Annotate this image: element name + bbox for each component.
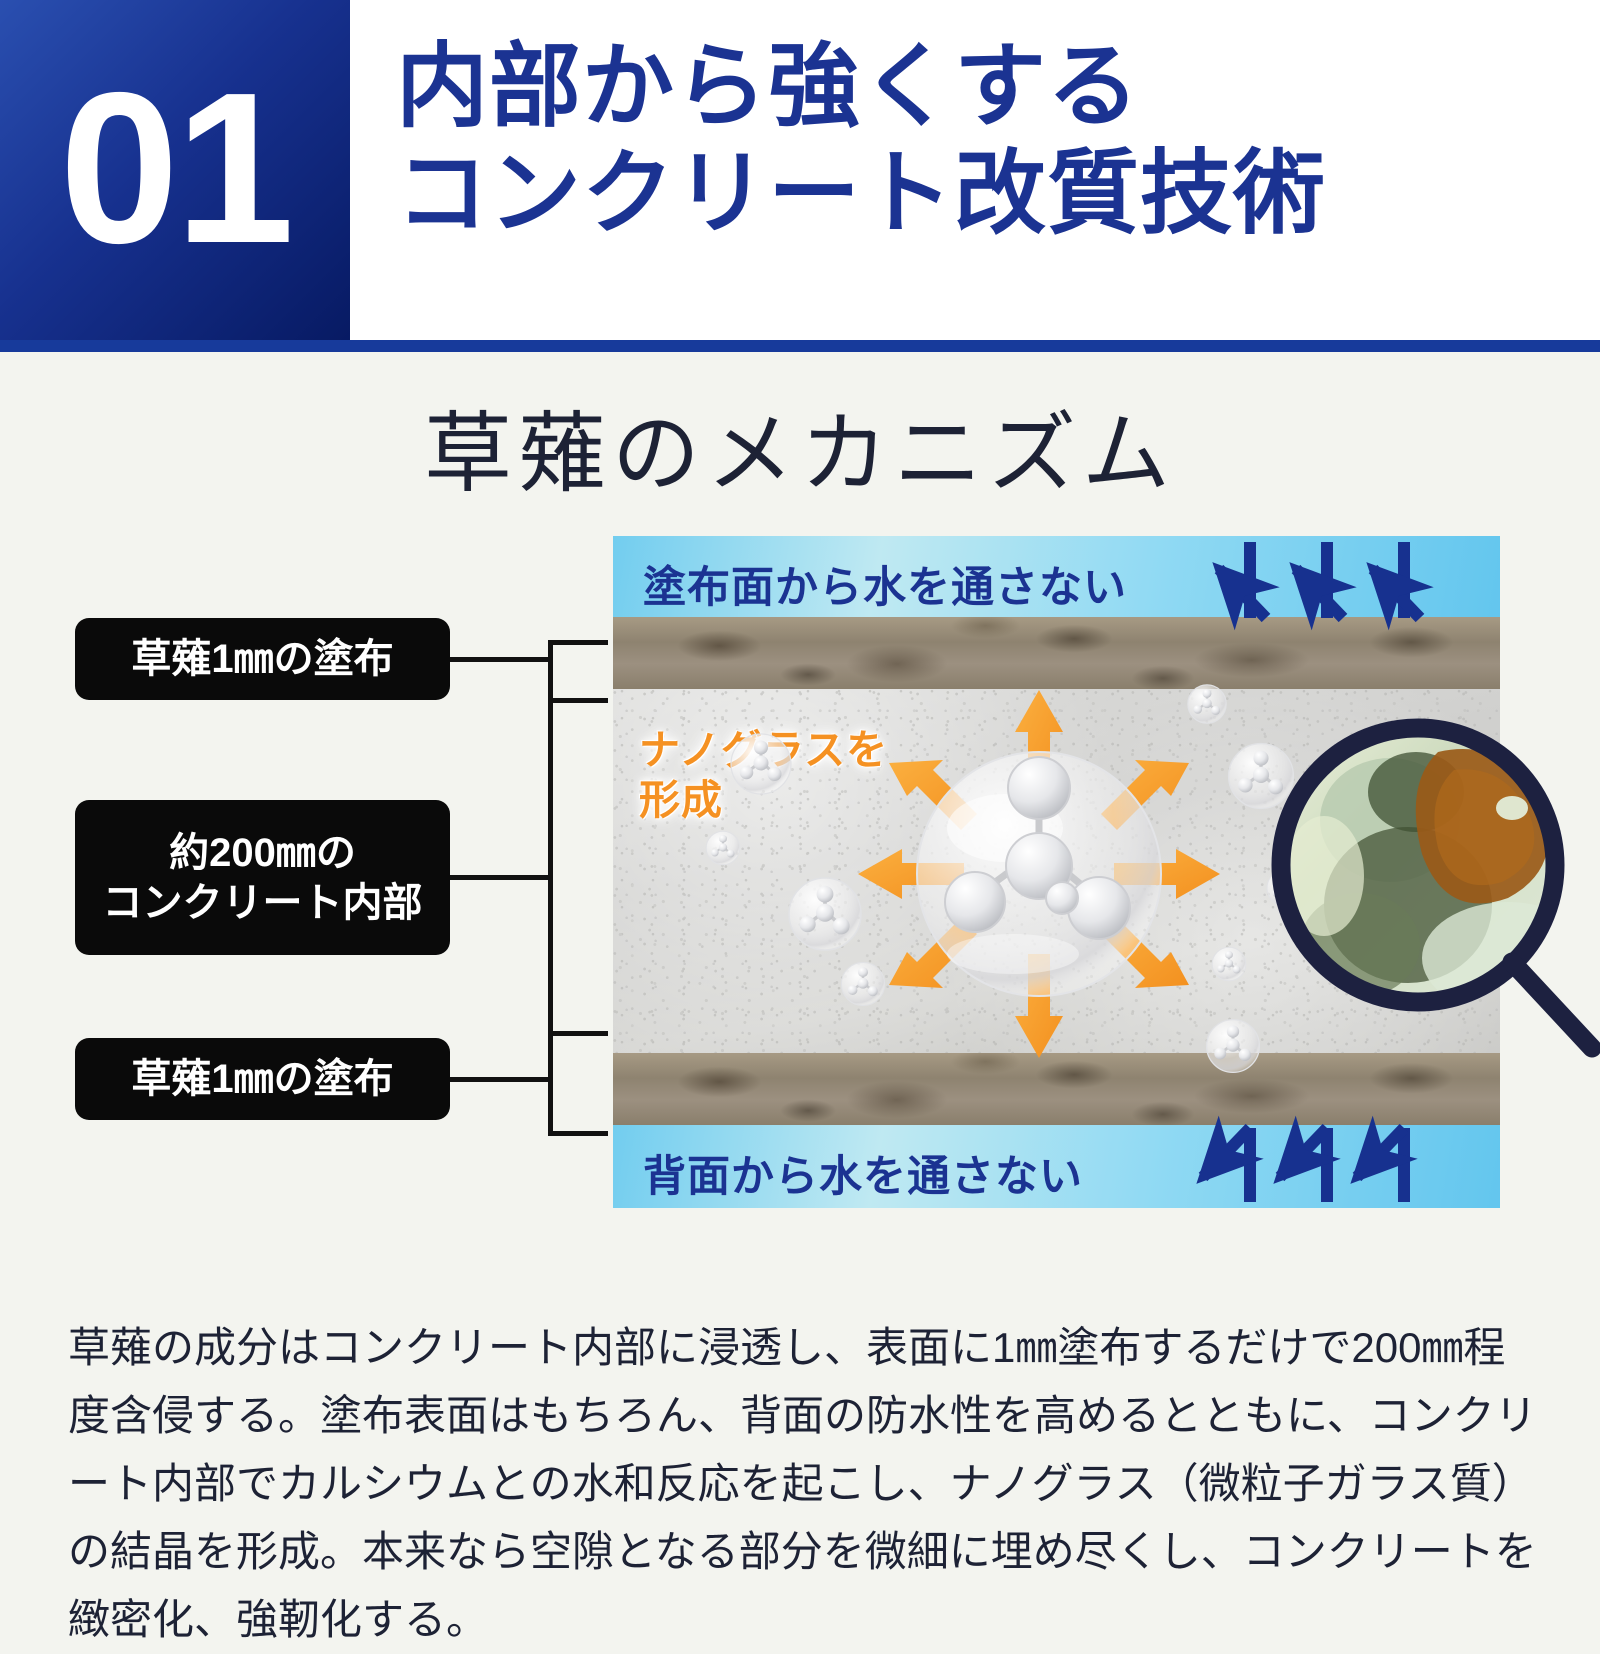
bracket-spine [548,640,553,1136]
page-title-line-2: コンクリート改質技術 [396,141,1576,248]
callout-label-coating-bottom: 草薙1㎜の塗布 [75,1038,450,1120]
bracket-tick-3 [548,1031,608,1036]
nano-glass-annotation: ナノグラスを 形成 [639,725,888,825]
header-divider [0,340,1600,352]
bracket-tick-1 [548,640,608,645]
page-title: 内部から強くする コンクリート改質技術 [396,34,1576,247]
connector-line-top-horizontal [450,657,552,662]
bracket-tick-4 [548,1131,608,1136]
callout-label-text-line-1: 約200㎜の [103,828,423,878]
nano-glass-annotation-line-2: 形成 [639,775,888,825]
header: 01 内部から強くする コンクリート改質技術 [0,0,1600,352]
step-number: 01 [0,0,350,340]
body-paragraph: 草薙の成分はコンクリート内部に浸透し、表面に1㎜塗布するだけで200㎜程度含侵す… [68,1314,1538,1654]
water-band-top-label: 塗布面から水を通さない [643,553,1127,615]
bracket-tick-2 [548,698,608,703]
coating-layer-top [613,617,1500,689]
magnifier-handle [1512,962,1592,1048]
water-band-bottom-label: 背面から水を通さない [643,1142,1083,1204]
callout-label-text: 草薙1㎜の塗布 [131,634,393,684]
connector-line-middle-horizontal [450,875,552,880]
connector-line-bottom-horizontal [450,1077,552,1082]
callout-label-coating-top: 草薙1㎜の塗布 [75,618,450,700]
section-subtitle: 草薙のメカニズム [0,383,1600,510]
header-number-box: 01 [0,0,350,340]
callout-label-text: 草薙1㎜の塗布 [131,1054,393,1104]
page-title-line-1: 内部から強くする [396,34,1576,141]
callout-label-text-line-2: コンクリート内部 [103,878,423,928]
magnifier-icon [1240,700,1600,1080]
callout-label-concrete-interior: 約200㎜の コンクリート内部 [75,800,450,955]
nano-glass-annotation-line-1: ナノグラスを [639,725,888,775]
